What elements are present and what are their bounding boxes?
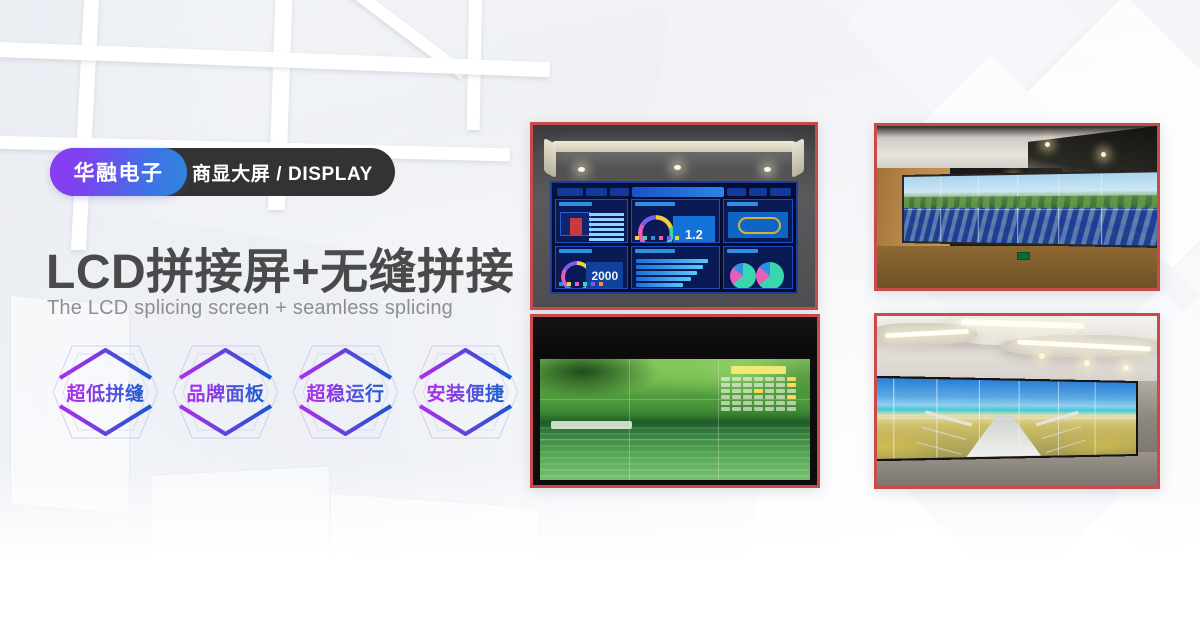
calendar-row — [721, 389, 797, 393]
dashboard-screen: 1.2 20 — [550, 181, 798, 294]
ceiling-cove — [550, 141, 798, 152]
video-wall-content — [904, 172, 1158, 245]
dashboard-panel — [631, 246, 719, 289]
panel-bezel — [629, 359, 630, 480]
ceiling-spot — [674, 165, 681, 170]
panel-bezel — [874, 418, 1135, 419]
wall-upper-dark — [533, 317, 817, 357]
shoreline-fence — [551, 421, 632, 429]
feature-label: 安装便捷 — [426, 379, 504, 406]
dashboard-grid: 1.2 20 — [555, 199, 793, 289]
feature-badge-1[interactable]: 超低拼缝 — [48, 336, 163, 448]
page-title: LCD拼接屏+无缝拼接 — [46, 232, 514, 302]
brand-pill: 华融电子 — [50, 148, 187, 196]
dashboard-title-bar — [632, 187, 724, 197]
topbar-chip — [770, 188, 791, 196]
kpi-value: 2000 — [591, 269, 618, 283]
category-label: 商显大屏 / DISPLAY — [192, 159, 373, 186]
ceiling-light — [1101, 152, 1106, 157]
ceiling-spot — [764, 167, 771, 172]
feature-label: 品牌面板 — [186, 379, 264, 406]
panel-text-lines — [589, 213, 625, 241]
category-pill: 华融电子 商显大屏 / DISPLAY — [50, 148, 395, 196]
video-wall-frame — [902, 170, 1160, 248]
dashboard-panel: 2000 — [555, 246, 628, 289]
panel-bezel — [718, 359, 719, 480]
process-map — [728, 212, 789, 237]
feature-badge-3[interactable]: 超稳运行 — [288, 336, 403, 448]
topbar-chip — [557, 188, 583, 196]
page-subtitle: The LCD splicing screen + seamless splic… — [47, 297, 453, 320]
chart-legend — [559, 282, 627, 286]
lake-water — [540, 427, 810, 480]
ceiling-spot — [578, 167, 585, 172]
panel-title-bar — [727, 249, 759, 253]
photo-scene — [877, 126, 1157, 288]
calendar-row — [721, 407, 797, 411]
video-wall-content — [874, 377, 1135, 459]
brand-badge-row: 华融电子 商显大屏 / DISPLAY — [50, 148, 395, 196]
panel-title-bar — [635, 202, 675, 206]
panel-title-bar — [559, 202, 592, 206]
panel-bezel — [904, 209, 1158, 210]
calendar-header — [731, 366, 785, 374]
bar-chart — [636, 259, 714, 289]
feature-list: 超低拼缝 品牌面板 超稳运行 — [48, 336, 523, 448]
photo-scene: 1.2 20 — [533, 125, 815, 307]
topbar-chip — [610, 188, 629, 196]
panel-image — [560, 212, 591, 236]
photo-scene — [533, 317, 817, 485]
gallery-photo-solar-wall[interactable] — [874, 123, 1160, 291]
calendar-row — [721, 401, 797, 405]
exit-sign-icon — [1017, 252, 1030, 260]
calendar-overlay — [721, 366, 797, 419]
dashboard-panel — [723, 246, 794, 289]
gallery-photo-landscape-wall[interactable] — [530, 314, 820, 488]
photo-scene — [877, 316, 1157, 486]
feature-badge-4[interactable]: 安装便捷 — [408, 336, 523, 448]
topbar-chip — [586, 188, 607, 196]
panel-title-bar — [559, 249, 592, 253]
chart-legend — [635, 236, 717, 240]
topbar-chip — [727, 188, 746, 196]
video-wall-frame — [874, 375, 1137, 462]
calendar-row — [721, 377, 797, 381]
panel-title-bar — [727, 202, 759, 206]
dashboard-panel — [723, 199, 794, 242]
pie-chart — [730, 263, 756, 289]
gallery-photo-beach-wall[interactable] — [874, 313, 1160, 489]
panel-title-bar — [635, 249, 675, 253]
dashboard-panel: 1.2 — [631, 199, 719, 242]
feature-badge-2[interactable]: 品牌面板 — [168, 336, 283, 448]
dashboard-panel — [555, 199, 628, 242]
feature-label: 超低拼缝 — [66, 379, 144, 406]
calendar-row — [721, 383, 797, 387]
panel-bezel — [540, 439, 810, 440]
dashboard-topbar — [555, 186, 793, 197]
banner-stage: 华融电子 商显大屏 / DISPLAY LCD拼接屏+无缝拼接 The LCD … — [0, 0, 1200, 640]
feature-label: 超稳运行 — [306, 379, 384, 406]
gallery-photo-dashboard[interactable]: 1.2 20 — [530, 122, 818, 310]
panel-bezel — [540, 399, 810, 400]
topbar-chip — [749, 188, 768, 196]
pie-chart — [756, 262, 784, 290]
lcd-screen — [540, 359, 810, 480]
